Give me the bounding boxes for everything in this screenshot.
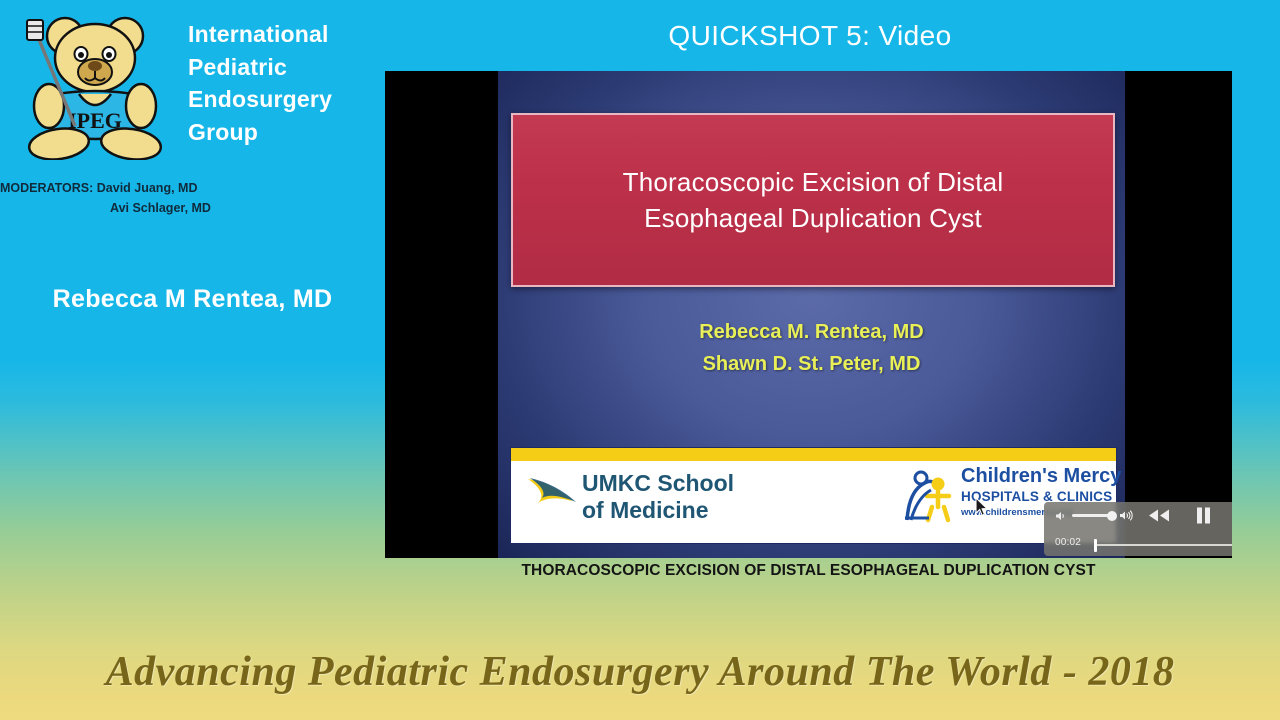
childrens-mercy-figure-icon [901, 468, 959, 526]
volume-slider-knob[interactable] [1107, 511, 1117, 521]
session-header-title: QUICKSHOT 5: Video [385, 20, 1235, 52]
volume-low-icon[interactable] [1055, 510, 1067, 522]
slide-author-2: Shawn D. St. Peter, MD [498, 348, 1125, 380]
slide-title-card: Thoracoscopic Excision of Distal Esophag… [511, 113, 1115, 287]
volume-slider[interactable] [1072, 514, 1114, 517]
umkc-line-1: UMKC School [582, 470, 734, 497]
moderator-secondary: Avi Schlager, MD [0, 198, 280, 218]
video-scrub-row[interactable]: 00:02 -02:16 [1044, 533, 1232, 556]
cmh-name: Children's Mercy [961, 466, 1126, 486]
moderators-block: MODERATORS: David Juang, MD Avi Schlager… [0, 178, 280, 218]
presenter-name: Rebecca M Rentea, MD [0, 285, 385, 314]
umkc-swoosh-icon [526, 476, 582, 510]
pause-icon[interactable] [1196, 507, 1211, 524]
scrub-bar[interactable] [1096, 544, 1232, 547]
org-name-line-4: Group [188, 116, 378, 149]
umkc-logo: UMKC School of Medicine [526, 470, 816, 532]
slide-footer-accent-bar [511, 448, 1116, 461]
scrub-handle[interactable] [1094, 539, 1097, 552]
org-name-line-1: International [188, 18, 378, 51]
ipeg-logo-block: IPEG International Pediatric Endosurgery… [8, 8, 378, 158]
moderator-primary: MODERATORS: David Juang, MD [0, 178, 280, 198]
volume-high-icon[interactable] [1119, 509, 1133, 522]
teddy-bear-logo-icon: IPEG [13, 10, 173, 160]
volume-control[interactable] [1055, 509, 1133, 522]
video-controls-top-row [1044, 502, 1232, 533]
session-info-panel: IPEG International Pediatric Endosurgery… [0, 0, 385, 620]
slide-institution-footer: UMKC School of Medicine Children's Mercy… [510, 447, 1117, 544]
slide-title: Thoracoscopic Excision of Distal Esophag… [607, 164, 1020, 237]
org-name-line-3: Endosurgery [188, 83, 378, 116]
footer-tagline: Advancing Pediatric Endosurgery Around T… [0, 648, 1280, 696]
rewind-icon[interactable] [1148, 508, 1170, 523]
slide-title-line-2: Esophageal Duplication Cyst [623, 200, 1004, 236]
time-elapsed: 00:02 [1055, 537, 1081, 548]
org-name-line-2: Pediatric [188, 51, 378, 84]
video-controls-overlay[interactable]: 00:02 -02:16 [1044, 502, 1232, 556]
transport-controls[interactable] [1148, 507, 1232, 524]
video-caption: THORACOSCOPIC EXCISION OF DISTAL ESOPHAG… [385, 562, 1232, 580]
ipeg-wordmark: International Pediatric Endosurgery Grou… [188, 18, 378, 149]
umkc-wordmark: UMKC School of Medicine [582, 470, 734, 524]
slide-authors: Rebecca M. Rentea, MD Shawn D. St. Peter… [498, 316, 1125, 381]
video-slide-frame: Thoracoscopic Excision of Distal Esophag… [498, 71, 1125, 558]
video-player[interactable]: Thoracoscopic Excision of Distal Esophag… [385, 71, 1232, 558]
slide-title-line-1: Thoracoscopic Excision of Distal [623, 164, 1004, 200]
mouse-cursor [975, 497, 989, 517]
umkc-line-2: of Medicine [582, 497, 734, 524]
slide-author-1: Rebecca M. Rentea, MD [498, 316, 1125, 348]
